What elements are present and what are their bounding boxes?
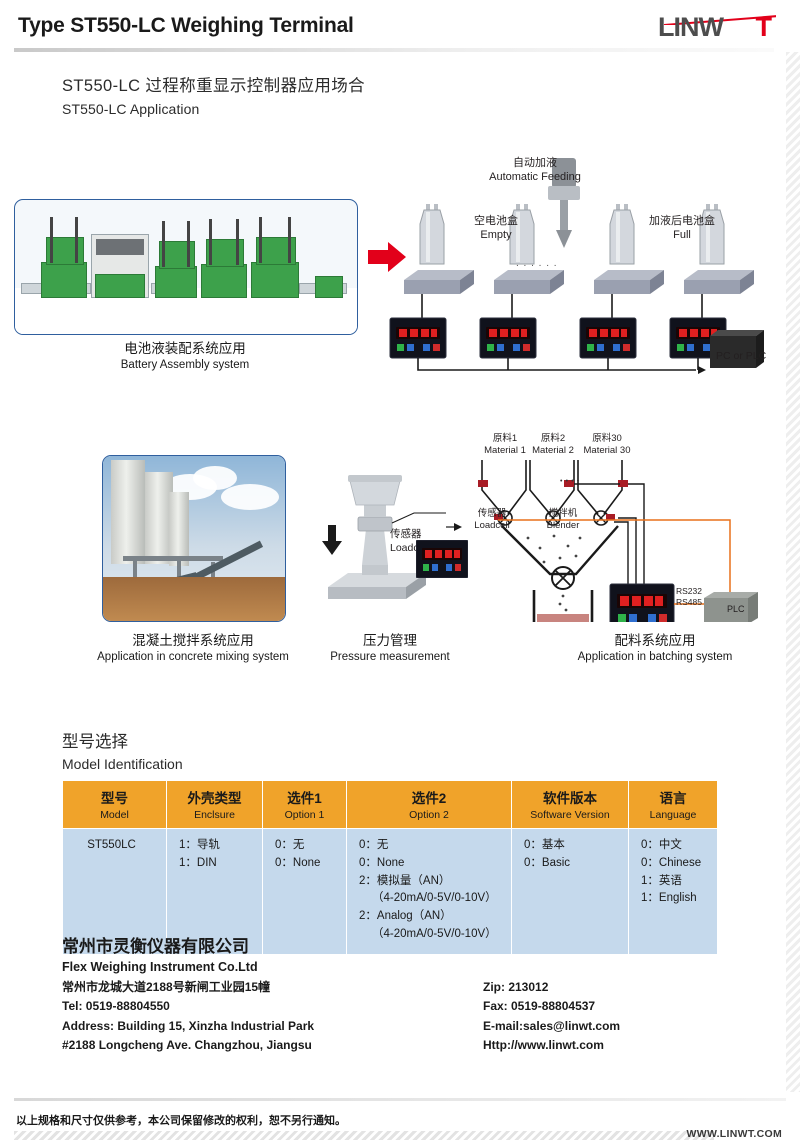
logo-text: LINW [658, 12, 723, 43]
col-option1-cn: 选件1 [265, 787, 344, 807]
header-divider [14, 48, 774, 52]
section-title-en: ST550-LC Application [62, 101, 365, 117]
label-material-1: 原料1 Material 1 [481, 433, 529, 457]
label-material-2: 原料2 Material 2 [529, 433, 577, 457]
rs485-label: RS485 [676, 597, 702, 608]
model-table-title-cn: 型号选择 [62, 728, 183, 752]
option2-line-3: 2：模拟量（AN） [359, 873, 505, 891]
footer-divider [14, 1098, 786, 1101]
address-block: 常州市龙城大道2188号新闸工业园15幢 Tel: 0519-88804550 … [62, 978, 314, 1056]
label-automatic-feeding: 自动加液 Automatic Feeding [487, 156, 583, 185]
enclosure-line-1: 1：导轨 [179, 837, 256, 855]
model-table-heading: 型号选择 Model Identification [62, 728, 183, 772]
col-language-en: Language [631, 809, 715, 821]
col-header-option1: 选件1 Option 1 [263, 781, 347, 829]
col-software-en: Software Version [514, 809, 626, 821]
batching-dots: • • • • [560, 478, 580, 485]
label-empty-box: 空电池盒 Empty [466, 214, 526, 243]
material-30-en: Material 30 [580, 445, 634, 457]
software-line-1: 0：基本 [524, 837, 622, 855]
caption-concrete: 混凝土搅拌系统应用 Application in concrete mixing… [62, 632, 324, 666]
label-batching-loadcell: 传感器 Loadcell [470, 508, 514, 532]
caption-battery-cn: 电池液装配系统应用 [14, 340, 356, 358]
red-arrow-icon [368, 242, 406, 272]
page-title: Type ST550-LC Weighing Terminal [18, 14, 354, 38]
col-header-option2: 选件2 Option 2 [347, 781, 512, 829]
caption-pressure-cn: 压力管理 [310, 632, 470, 650]
cell-option2: 0：无 0：None 2：模拟量（AN） （4-20mA/0-5V/0-10V）… [347, 829, 512, 955]
pc-plc-label: PC or PLC [716, 350, 766, 362]
language-line-1: 0：中文 [641, 837, 711, 855]
label-full-box: 加液后电池盒 Full [644, 214, 720, 243]
col-header-language: 语言 Language [629, 781, 718, 829]
col-model-en: Model [65, 809, 164, 821]
company-name-cn: 常州市灵衡仪器有限公司 [62, 932, 258, 957]
caption-battery-en: Battery Assembly system [14, 358, 356, 374]
option2-line-1: 0：无 [359, 837, 505, 855]
caption-batching-cn: 配料系统应用 [540, 632, 770, 650]
option1-line-1: 0：无 [275, 837, 340, 855]
caption-battery-assembly: 电池液装配系统应用 Battery Assembly system [14, 340, 356, 374]
contact-website[interactable]: Http://www.linwt.com [483, 1036, 620, 1055]
caption-pressure: 压力管理 Pressure measurement [310, 632, 470, 666]
logo-accent-letter: T [756, 12, 773, 43]
full-label-en: Full [644, 228, 720, 242]
caption-batching-en: Application in batching system [540, 650, 770, 666]
concrete-plant-photo [102, 455, 286, 622]
rs232-label: RS232 [676, 586, 702, 597]
col-header-software: 软件版本 Software Version [512, 781, 629, 829]
company-name-en: Flex Weighing Instrument Co.Ltd [62, 960, 258, 974]
material-30-cn: 原料30 [580, 433, 634, 445]
model-identification-table: 型号 Model 外壳类型 Enclsure 选件1 Option 1 选件2 … [62, 780, 718, 955]
enclosure-line-2: 1：DIN [179, 855, 256, 873]
option1-line-2: 0：None [275, 855, 340, 873]
col-header-model: 型号 Model [63, 781, 167, 829]
full-label-cn: 加液后电池盒 [644, 214, 720, 228]
option2-line-4: （4-20mA/0-5V/0-10V） [359, 890, 505, 908]
contact-fax: Fax: 0519-88804537 [483, 997, 620, 1016]
empty-label-cn: 空电池盒 [466, 214, 526, 228]
col-model-cn: 型号 [65, 787, 164, 807]
ellipsis-label: . . . . . . [516, 258, 558, 269]
caption-pressure-en: Pressure measurement [310, 650, 470, 666]
cell-option1: 0：无 0：None [263, 829, 347, 955]
cell-language: 0：中文 0：Chinese 1：英语 1：English [629, 829, 718, 955]
software-line-2: 0：Basic [524, 855, 622, 873]
plc-label: PLC [727, 604, 745, 614]
col-option1-en: Option 1 [265, 809, 344, 821]
section-heading: ST550-LC 过程称重显示控制器应用场合 ST550-LC Applicat… [62, 72, 365, 117]
col-enclosure-en: Enclsure [169, 809, 260, 821]
option2-line-6: （4-20mA/0-5V/0-10V） [359, 926, 505, 944]
option2-line-5: 2：Analog（AN） [359, 908, 505, 926]
blender-en: Blender [540, 520, 586, 532]
language-line-2: 0：Chinese [641, 855, 711, 873]
address-line-3: Address: Building 15, Xinzha Industrial … [62, 1017, 314, 1036]
section-title-cn: ST550-LC 过程称重显示控制器应用场合 [62, 72, 365, 96]
language-line-4: 1：English [641, 890, 711, 908]
option2-line-2: 0：None [359, 855, 505, 873]
footer-url[interactable]: WWW.LINWT.COM [687, 1128, 782, 1140]
col-language-cn: 语言 [631, 787, 715, 807]
batching-loadcell-cn: 传感器 [470, 508, 514, 520]
label-blender: 搅拌机 Blender [540, 508, 586, 532]
material-1-cn: 原料1 [481, 433, 529, 445]
model-table-title-en: Model Identification [62, 756, 183, 772]
col-option2-en: Option 2 [349, 809, 509, 821]
contact-block: Zip: 213012 Fax: 0519-88804537 E-mail:sa… [483, 978, 620, 1056]
col-software-cn: 软件版本 [514, 787, 626, 807]
col-header-enclosure: 外壳类型 Enclsure [167, 781, 263, 829]
address-line-4: #2188 Longcheng Ave. Changzhou, Jiangsu [62, 1036, 314, 1055]
battery-assembly-photo [14, 199, 358, 335]
pressure-meter [416, 540, 468, 578]
company-block: 常州市灵衡仪器有限公司 Flex Weighing Instrument Co.… [62, 932, 258, 974]
cell-model-value: ST550LC [87, 839, 136, 851]
table-header-row: 型号 Model 外壳类型 Enclsure 选件1 Option 1 选件2 … [63, 781, 718, 829]
disclaimer-text: 以上规格和尺寸仅供参考，本公司保留修改的权利，恕不另行通知。 [16, 1112, 346, 1128]
contact-email[interactable]: E-mail:sales@linwt.com [483, 1017, 620, 1036]
caption-concrete-en: Application in concrete mixing system [62, 650, 324, 666]
batching-loadcell-en: Loadcell [470, 520, 514, 532]
address-line-1: 常州市龙城大道2188号新闸工业园15幢 [62, 978, 314, 997]
col-enclosure-cn: 外壳类型 [169, 787, 260, 807]
edge-hatch-decoration [786, 52, 800, 1092]
caption-batching: 配料系统应用 Application in batching system [540, 632, 770, 666]
batching-system-diagram [468, 452, 768, 622]
col-option2-cn: 选件2 [349, 787, 509, 807]
page-header: Type ST550-LC Weighing Terminal LINW T [0, 0, 800, 52]
caption-concrete-cn: 混凝土搅拌系统应用 [62, 632, 324, 650]
material-1-en: Material 1 [481, 445, 529, 457]
language-line-3: 1：英语 [641, 873, 711, 891]
blender-cn: 搅拌机 [540, 508, 586, 520]
cell-software: 0：基本 0：Basic [512, 829, 629, 955]
linwt-logo: LINW T [658, 8, 778, 46]
empty-label-en: Empty [466, 228, 526, 242]
address-line-2: Tel: 0519-88804550 [62, 997, 314, 1016]
contact-zip: Zip: 213012 [483, 978, 620, 997]
material-2-en: Material 2 [529, 445, 577, 457]
label-serial-interfaces: RS232 RS485 [676, 586, 702, 608]
feeding-label-cn: 自动加液 [487, 156, 583, 170]
footer-hatch-decoration [14, 1131, 714, 1140]
photo-ground [103, 577, 285, 621]
material-2-cn: 原料2 [529, 433, 577, 445]
feeding-label-en: Automatic Feeding [487, 170, 583, 184]
label-material-30: 原料30 Material 30 [580, 433, 634, 457]
